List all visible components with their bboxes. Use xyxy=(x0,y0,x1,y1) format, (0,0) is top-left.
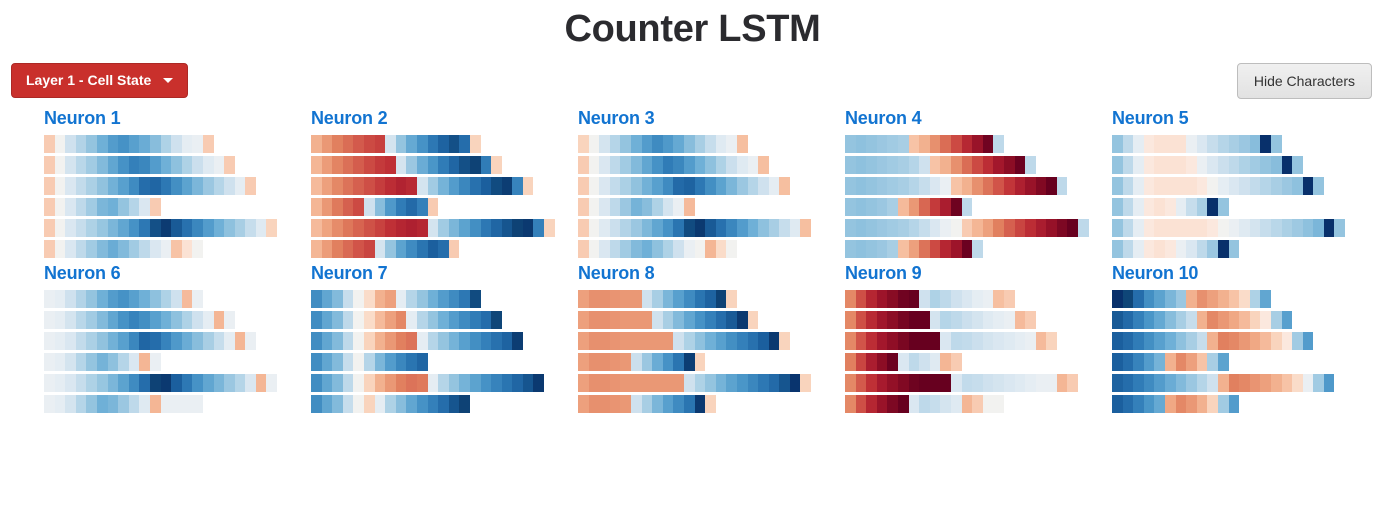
heatmap-cell[interactable] xyxy=(951,290,962,308)
heatmap-cell[interactable] xyxy=(578,177,589,195)
heatmap-cell[interactable] xyxy=(417,290,428,308)
heatmap-cell[interactable] xyxy=(1250,332,1261,350)
heatmap-cell[interactable] xyxy=(322,311,333,329)
heatmap-cell[interactable] xyxy=(684,219,695,237)
heatmap-cell[interactable] xyxy=(610,219,621,237)
heatmap-cell[interactable] xyxy=(1025,219,1036,237)
heatmap-cell[interactable] xyxy=(139,290,150,308)
heatmap-cell[interactable] xyxy=(428,311,439,329)
heatmap-cell[interactable] xyxy=(1282,177,1293,195)
heatmap-cell[interactable] xyxy=(150,240,161,258)
heatmap-cell[interactable] xyxy=(139,395,150,413)
heatmap-cell[interactable] xyxy=(332,353,343,371)
heatmap-cell[interactable] xyxy=(930,290,941,308)
heatmap-cell[interactable] xyxy=(866,311,877,329)
heatmap-cell[interactable] xyxy=(428,219,439,237)
heatmap-cell[interactable] xyxy=(396,374,407,392)
heatmap-cell[interactable] xyxy=(887,135,898,153)
heatmap-cell[interactable] xyxy=(491,177,502,195)
heatmap-cell[interactable] xyxy=(1176,198,1187,216)
heatmap-cell[interactable] xyxy=(589,311,600,329)
heatmap-cell[interactable] xyxy=(1186,332,1197,350)
heatmap-cell[interactable] xyxy=(972,240,983,258)
heatmap-cell[interactable] xyxy=(898,135,909,153)
heatmap-cell[interactable] xyxy=(459,219,470,237)
heatmap-cell[interactable] xyxy=(758,156,769,174)
heatmap-cell[interactable] xyxy=(1186,395,1197,413)
heatmap-cell[interactable] xyxy=(55,353,66,371)
heatmap-cell[interactable] xyxy=(438,395,449,413)
heatmap-cell[interactable] xyxy=(353,332,364,350)
heatmap-cell[interactable] xyxy=(396,395,407,413)
heatmap-cell[interactable] xyxy=(375,219,386,237)
heatmap-cell[interactable] xyxy=(322,374,333,392)
heatmap-cell[interactable] xyxy=(909,311,920,329)
heatmap-cell[interactable] xyxy=(396,135,407,153)
heatmap-cell[interactable] xyxy=(428,177,439,195)
heatmap-cell[interactable] xyxy=(129,156,140,174)
heatmap-cell[interactable] xyxy=(930,177,941,195)
heatmap-cell[interactable] xyxy=(97,332,108,350)
heatmap-cell[interactable] xyxy=(1112,395,1123,413)
heatmap-cell[interactable] xyxy=(898,219,909,237)
heatmap-cell[interactable] xyxy=(909,374,920,392)
heatmap-cell[interactable] xyxy=(182,177,193,195)
heatmap-cell[interactable] xyxy=(620,395,631,413)
heatmap-cell[interactable] xyxy=(1271,156,1282,174)
heatmap-cell[interactable] xyxy=(898,311,909,329)
heatmap-cell[interactable] xyxy=(1176,311,1187,329)
heatmap-cell[interactable] xyxy=(642,290,653,308)
heatmap-cell[interactable] xyxy=(578,311,589,329)
heatmap-cell[interactable] xyxy=(481,156,492,174)
heatmap-cell[interactable] xyxy=(245,332,256,350)
heatmap-cell[interactable] xyxy=(1057,374,1068,392)
heatmap-cell[interactable] xyxy=(1271,332,1282,350)
heatmap-cell[interactable] xyxy=(919,240,930,258)
heatmap-cell[interactable] xyxy=(65,219,76,237)
heatmap-cell[interactable] xyxy=(512,219,523,237)
heatmap-cell[interactable] xyxy=(76,177,87,195)
heatmap-cell[interactable] xyxy=(150,156,161,174)
heatmap-cell[interactable] xyxy=(1025,156,1036,174)
heatmap-cell[interactable] xyxy=(737,332,748,350)
heatmap-cell[interactable] xyxy=(1123,353,1134,371)
heatmap-cell[interactable] xyxy=(533,219,544,237)
heatmap-cell[interactable] xyxy=(171,290,182,308)
heatmap-cell[interactable] xyxy=(993,290,1004,308)
heatmap-cell[interactable] xyxy=(726,177,737,195)
heatmap-cell[interactable] xyxy=(1015,374,1026,392)
heatmap-cell[interactable] xyxy=(1186,374,1197,392)
heatmap-cell[interactable] xyxy=(1057,177,1068,195)
heatmap-cell[interactable] xyxy=(118,311,129,329)
heatmap-cell[interactable] xyxy=(375,290,386,308)
heatmap-cell[interactable] xyxy=(589,135,600,153)
heatmap-cell[interactable] xyxy=(748,219,759,237)
heatmap-cell[interactable] xyxy=(620,156,631,174)
heatmap-cell[interactable] xyxy=(97,135,108,153)
heatmap-cell[interactable] xyxy=(1133,374,1144,392)
heatmap-cell[interactable] xyxy=(930,156,941,174)
heatmap-cell[interactable] xyxy=(214,311,225,329)
heatmap-cell[interactable] xyxy=(118,374,129,392)
heatmap-cell[interactable] xyxy=(1004,311,1015,329)
heatmap-cell[interactable] xyxy=(589,177,600,195)
heatmap-cell[interactable] xyxy=(1239,156,1250,174)
heatmap-cell[interactable] xyxy=(1078,219,1089,237)
heatmap-cell[interactable] xyxy=(1239,332,1250,350)
heatmap-cell[interactable] xyxy=(343,219,354,237)
heatmap-cell[interactable] xyxy=(845,177,856,195)
heatmap-cell[interactable] xyxy=(332,374,343,392)
heatmap-cell[interactable] xyxy=(866,135,877,153)
heatmap-cell[interactable] xyxy=(919,332,930,350)
heatmap-cell[interactable] xyxy=(589,219,600,237)
heatmap-cell[interactable] xyxy=(1176,156,1187,174)
heatmap-cell[interactable] xyxy=(150,395,161,413)
heatmap-cell[interactable] xyxy=(322,353,333,371)
heatmap-cell[interactable] xyxy=(1303,177,1314,195)
heatmap-cell[interactable] xyxy=(1144,240,1155,258)
heatmap-cell[interactable] xyxy=(930,219,941,237)
heatmap-cell[interactable] xyxy=(129,240,140,258)
heatmap-cell[interactable] xyxy=(470,311,481,329)
heatmap-cell[interactable] xyxy=(182,240,193,258)
heatmap-cell[interactable] xyxy=(610,290,621,308)
heatmap-cell[interactable] xyxy=(428,198,439,216)
heatmap-cell[interactable] xyxy=(375,374,386,392)
heatmap-cell[interactable] xyxy=(673,156,684,174)
heatmap-cell[interactable] xyxy=(1250,374,1261,392)
heatmap-cell[interactable] xyxy=(845,353,856,371)
heatmap-cell[interactable] xyxy=(438,374,449,392)
heatmap-cell[interactable] xyxy=(1197,135,1208,153)
heatmap-cell[interactable] xyxy=(1154,311,1165,329)
heatmap-cell[interactable] xyxy=(887,219,898,237)
heatmap-cell[interactable] xyxy=(76,198,87,216)
heatmap-cell[interactable] xyxy=(1154,219,1165,237)
heatmap-cell[interactable] xyxy=(652,374,663,392)
heatmap-cell[interactable] xyxy=(1207,311,1218,329)
heatmap-cell[interactable] xyxy=(417,219,428,237)
heatmap-cell[interactable] xyxy=(620,290,631,308)
heatmap-cell[interactable] xyxy=(1144,290,1155,308)
heatmap-cell[interactable] xyxy=(663,198,674,216)
heatmap-cell[interactable] xyxy=(470,156,481,174)
heatmap-cell[interactable] xyxy=(129,135,140,153)
heatmap-cell[interactable] xyxy=(182,395,193,413)
heatmap-cell[interactable] xyxy=(406,219,417,237)
heatmap-cell[interactable] xyxy=(44,240,55,258)
heatmap-cell[interactable] xyxy=(1123,156,1134,174)
heatmap-cell[interactable] xyxy=(642,219,653,237)
heatmap-cell[interactable] xyxy=(55,311,66,329)
heatmap-cell[interactable] xyxy=(1229,290,1240,308)
heatmap-cell[interactable] xyxy=(417,332,428,350)
heatmap-cell[interactable] xyxy=(684,177,695,195)
heatmap-cell[interactable] xyxy=(150,311,161,329)
heatmap-cell[interactable] xyxy=(353,240,364,258)
heatmap-cell[interactable] xyxy=(1229,332,1240,350)
heatmap-cell[interactable] xyxy=(86,395,97,413)
heatmap-cell[interactable] xyxy=(65,240,76,258)
heatmap-cell[interactable] xyxy=(1197,198,1208,216)
heatmap-cell[interactable] xyxy=(182,156,193,174)
heatmap-cell[interactable] xyxy=(1133,311,1144,329)
heatmap-cell[interactable] xyxy=(129,332,140,350)
heatmap-cell[interactable] xyxy=(76,290,87,308)
heatmap-cell[interactable] xyxy=(1123,311,1134,329)
heatmap-cell[interactable] xyxy=(866,290,877,308)
heatmap-cell[interactable] xyxy=(65,311,76,329)
heatmap-cell[interactable] xyxy=(1186,311,1197,329)
heatmap-cell[interactable] xyxy=(1165,395,1176,413)
heatmap-cell[interactable] xyxy=(589,240,600,258)
heatmap-cell[interactable] xyxy=(161,156,172,174)
heatmap-cell[interactable] xyxy=(631,156,642,174)
heatmap-cell[interactable] xyxy=(726,240,737,258)
heatmap-cell[interactable] xyxy=(1112,311,1123,329)
heatmap-cell[interactable] xyxy=(610,240,621,258)
heatmap-cell[interactable] xyxy=(1197,290,1208,308)
heatmap-cell[interactable] xyxy=(44,198,55,216)
heatmap-cell[interactable] xyxy=(1112,374,1123,392)
heatmap-cell[interactable] xyxy=(1260,311,1271,329)
heatmap-cell[interactable] xyxy=(599,198,610,216)
heatmap-cell[interactable] xyxy=(192,332,203,350)
heatmap-cell[interactable] xyxy=(1207,353,1218,371)
heatmap-cell[interactable] xyxy=(203,219,214,237)
heatmap-cell[interactable] xyxy=(1036,332,1047,350)
heatmap-cell[interactable] xyxy=(716,290,727,308)
heatmap-cell[interactable] xyxy=(1197,311,1208,329)
heatmap-cell[interactable] xyxy=(332,332,343,350)
heatmap-cell[interactable] xyxy=(1046,332,1057,350)
heatmap-cell[interactable] xyxy=(523,374,534,392)
heatmap-cell[interactable] xyxy=(108,353,119,371)
heatmap-cell[interactable] xyxy=(76,332,87,350)
heatmap-cell[interactable] xyxy=(76,353,87,371)
heatmap-cell[interactable] xyxy=(428,374,439,392)
heatmap-cell[interactable] xyxy=(684,240,695,258)
heatmap-cell[interactable] xyxy=(631,135,642,153)
heatmap-cell[interactable] xyxy=(1057,219,1068,237)
heatmap-cell[interactable] xyxy=(940,332,951,350)
heatmap-cell[interactable] xyxy=(65,177,76,195)
heatmap-cell[interactable] xyxy=(887,374,898,392)
heatmap-cell[interactable] xyxy=(86,219,97,237)
heatmap-cell[interactable] xyxy=(192,156,203,174)
heatmap-cell[interactable] xyxy=(737,135,748,153)
heatmap-cell[interactable] xyxy=(993,374,1004,392)
heatmap-cell[interactable] xyxy=(877,198,888,216)
heatmap-cell[interactable] xyxy=(599,374,610,392)
heatmap-cell[interactable] xyxy=(161,219,172,237)
heatmap-cell[interactable] xyxy=(161,311,172,329)
heatmap-cell[interactable] xyxy=(866,177,877,195)
heatmap-cell[interactable] xyxy=(1123,395,1134,413)
heatmap-cell[interactable] xyxy=(512,374,523,392)
heatmap-cell[interactable] xyxy=(1239,219,1250,237)
heatmap-cell[interactable] xyxy=(406,374,417,392)
heatmap-cell[interactable] xyxy=(256,219,267,237)
heatmap-cell[interactable] xyxy=(716,177,727,195)
heatmap-cell[interactable] xyxy=(758,219,769,237)
heatmap-cell[interactable] xyxy=(962,198,973,216)
heatmap-cell[interactable] xyxy=(322,135,333,153)
heatmap-cell[interactable] xyxy=(97,395,108,413)
heatmap-cell[interactable] xyxy=(1197,156,1208,174)
heatmap-cell[interactable] xyxy=(385,374,396,392)
heatmap-cell[interactable] xyxy=(652,332,663,350)
heatmap-cell[interactable] xyxy=(129,374,140,392)
heatmap-cell[interactable] xyxy=(375,353,386,371)
heatmap-cell[interactable] xyxy=(695,353,706,371)
heatmap-cell[interactable] xyxy=(459,156,470,174)
heatmap-cell[interactable] xyxy=(1165,240,1176,258)
heatmap-cell[interactable] xyxy=(311,135,322,153)
heatmap-cell[interactable] xyxy=(1036,177,1047,195)
heatmap-cell[interactable] xyxy=(139,156,150,174)
heatmap-cell[interactable] xyxy=(972,177,983,195)
heatmap-cell[interactable] xyxy=(311,177,322,195)
heatmap-cell[interactable] xyxy=(642,198,653,216)
heatmap-cell[interactable] xyxy=(1303,332,1314,350)
heatmap-cell[interactable] xyxy=(343,177,354,195)
heatmap-cell[interactable] xyxy=(748,156,759,174)
heatmap-cell[interactable] xyxy=(150,332,161,350)
heatmap-cell[interactable] xyxy=(214,219,225,237)
heatmap-cell[interactable] xyxy=(898,240,909,258)
heatmap-cell[interactable] xyxy=(353,219,364,237)
heatmap-cell[interactable] xyxy=(55,374,66,392)
heatmap-cell[interactable] xyxy=(877,395,888,413)
heatmap-cell[interactable] xyxy=(44,395,55,413)
heatmap-cell[interactable] xyxy=(866,332,877,350)
heatmap-cell[interactable] xyxy=(1207,290,1218,308)
heatmap-cell[interactable] xyxy=(673,395,684,413)
heatmap-cell[interactable] xyxy=(406,135,417,153)
heatmap-cell[interactable] xyxy=(192,374,203,392)
heatmap-cell[interactable] xyxy=(544,219,555,237)
heatmap-cell[interactable] xyxy=(1144,219,1155,237)
heatmap-cell[interactable] xyxy=(856,240,867,258)
heatmap-cell[interactable] xyxy=(716,219,727,237)
heatmap-cell[interactable] xyxy=(343,395,354,413)
heatmap-cell[interactable] xyxy=(856,332,867,350)
heatmap-cell[interactable] xyxy=(1229,135,1240,153)
heatmap-cell[interactable] xyxy=(118,177,129,195)
heatmap-cell[interactable] xyxy=(343,156,354,174)
heatmap-cell[interactable] xyxy=(1165,374,1176,392)
heatmap-cell[interactable] xyxy=(1218,332,1229,350)
heatmap-cell[interactable] xyxy=(866,198,877,216)
heatmap-cell[interactable] xyxy=(1292,177,1303,195)
heatmap-cell[interactable] xyxy=(322,156,333,174)
heatmap-cell[interactable] xyxy=(1292,219,1303,237)
heatmap-cell[interactable] xyxy=(406,156,417,174)
heatmap-cell[interactable] xyxy=(1324,374,1335,392)
heatmap-cell[interactable] xyxy=(214,332,225,350)
heatmap-cell[interactable] xyxy=(76,219,87,237)
heatmap-cell[interactable] xyxy=(1250,156,1261,174)
heatmap-cell[interactable] xyxy=(375,156,386,174)
heatmap-cell[interactable] xyxy=(866,374,877,392)
heatmap-cell[interactable] xyxy=(203,332,214,350)
heatmap-cell[interactable] xyxy=(449,374,460,392)
heatmap-cell[interactable] xyxy=(182,311,193,329)
heatmap-cell[interactable] xyxy=(449,135,460,153)
heatmap-cell[interactable] xyxy=(97,353,108,371)
heatmap-cell[interactable] xyxy=(1197,332,1208,350)
heatmap-cell[interactable] xyxy=(353,395,364,413)
heatmap-cell[interactable] xyxy=(1004,219,1015,237)
heatmap-cell[interactable] xyxy=(55,135,66,153)
heatmap-cell[interactable] xyxy=(1250,290,1261,308)
heatmap-cell[interactable] xyxy=(983,135,994,153)
heatmap-cell[interactable] xyxy=(417,156,428,174)
heatmap-cell[interactable] xyxy=(993,135,1004,153)
heatmap-cell[interactable] xyxy=(44,311,55,329)
heatmap-cell[interactable] xyxy=(599,219,610,237)
heatmap-cell[interactable] xyxy=(663,332,674,350)
heatmap-cell[interactable] xyxy=(1144,332,1155,350)
heatmap-cell[interactable] xyxy=(364,156,375,174)
heatmap-cell[interactable] xyxy=(758,374,769,392)
heatmap-cell[interactable] xyxy=(993,177,1004,195)
heatmap-cell[interactable] xyxy=(438,240,449,258)
heatmap-cell[interactable] xyxy=(375,135,386,153)
heatmap-cell[interactable] xyxy=(877,290,888,308)
heatmap-cell[interactable] xyxy=(1123,290,1134,308)
heatmap-cell[interactable] xyxy=(385,395,396,413)
heatmap-cell[interactable] xyxy=(118,240,129,258)
heatmap-cell[interactable] xyxy=(1176,177,1187,195)
heatmap-cell[interactable] xyxy=(108,156,119,174)
heatmap-cell[interactable] xyxy=(642,395,653,413)
heatmap-cell[interactable] xyxy=(620,135,631,153)
heatmap-cell[interactable] xyxy=(578,198,589,216)
heatmap-cell[interactable] xyxy=(909,332,920,350)
heatmap-cell[interactable] xyxy=(1292,332,1303,350)
heatmap-cell[interactable] xyxy=(1239,311,1250,329)
heatmap-cell[interactable] xyxy=(951,353,962,371)
heatmap-cell[interactable] xyxy=(877,240,888,258)
heatmap-cell[interactable] xyxy=(428,135,439,153)
heatmap-cell[interactable] xyxy=(150,177,161,195)
heatmap-cell[interactable] xyxy=(599,156,610,174)
heatmap-cell[interactable] xyxy=(1112,135,1123,153)
heatmap-cell[interactable] xyxy=(1313,374,1324,392)
heatmap-cell[interactable] xyxy=(983,311,994,329)
heatmap-cell[interactable] xyxy=(856,177,867,195)
heatmap-cell[interactable] xyxy=(235,177,246,195)
heatmap-cell[interactable] xyxy=(44,219,55,237)
heatmap-cell[interactable] xyxy=(1218,177,1229,195)
heatmap-cell[interactable] xyxy=(417,198,428,216)
heatmap-cell[interactable] xyxy=(97,240,108,258)
heatmap-cell[interactable] xyxy=(1197,240,1208,258)
heatmap-cell[interactable] xyxy=(1004,156,1015,174)
heatmap-cell[interactable] xyxy=(758,332,769,350)
heatmap-cell[interactable] xyxy=(845,374,856,392)
heatmap-cell[interactable] xyxy=(1218,374,1229,392)
heatmap-cell[interactable] xyxy=(1165,177,1176,195)
heatmap-cell[interactable] xyxy=(364,177,375,195)
heatmap-cell[interactable] xyxy=(1260,332,1271,350)
heatmap-cell[interactable] xyxy=(428,156,439,174)
